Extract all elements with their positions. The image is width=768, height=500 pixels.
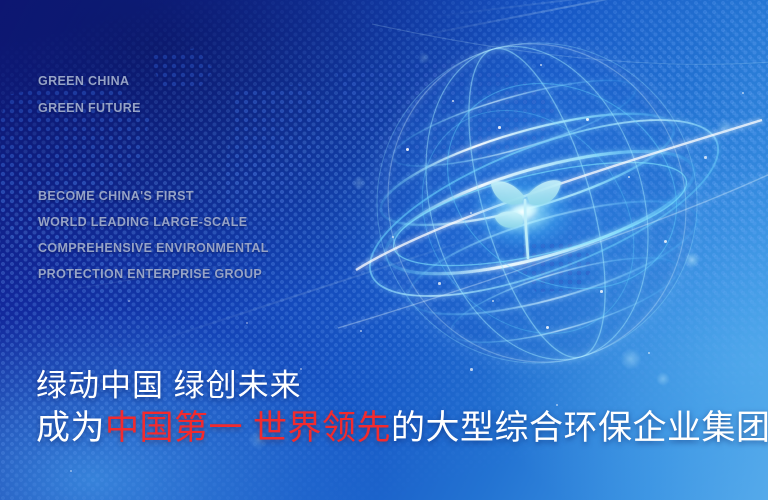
headline-cn-suffix: 的大型综合环保企业集团 [391,409,768,447]
headline-cn: 绿动中国 绿创未来 成为中国第一世界领先的大型综合环保企业集团 [36,366,768,450]
hero-banner: GREEN CHINA GREEN FUTURE BECOME CHINA'S … [0,0,768,500]
headline-cn-line-1: 绿动中国 绿创未来 [36,366,768,406]
headline-cn-prefix: 成为 [36,409,105,447]
slogan-en-top: GREEN CHINA GREEN FUTURE [38,68,141,122]
slogan-top-line-2: GREEN FUTURE [38,95,141,122]
slogan-top-line-1: GREEN CHINA [38,68,141,95]
headline-cn-line-2: 成为中国第一世界领先的大型综合环保企业集团 [36,406,768,450]
slogan-main-line-2: WORLD LEADING LARGE-SCALE [38,209,269,235]
slogan-main-line-3: COMPREHENSIVE ENVIRONMENTAL [38,235,269,261]
headline-cn-highlight-a: 中国第一 [105,409,243,447]
slogan-main-line-1: BECOME CHINA'S FIRST [38,183,269,209]
headline-cn-highlight-b: 世界领先 [253,409,391,447]
sprout-icon [486,170,564,260]
slogan-en-main: BECOME CHINA'S FIRST WORLD LEADING LARGE… [38,183,269,287]
slogan-main-line-4: PROTECTION ENTERPRISE GROUP [38,261,269,287]
